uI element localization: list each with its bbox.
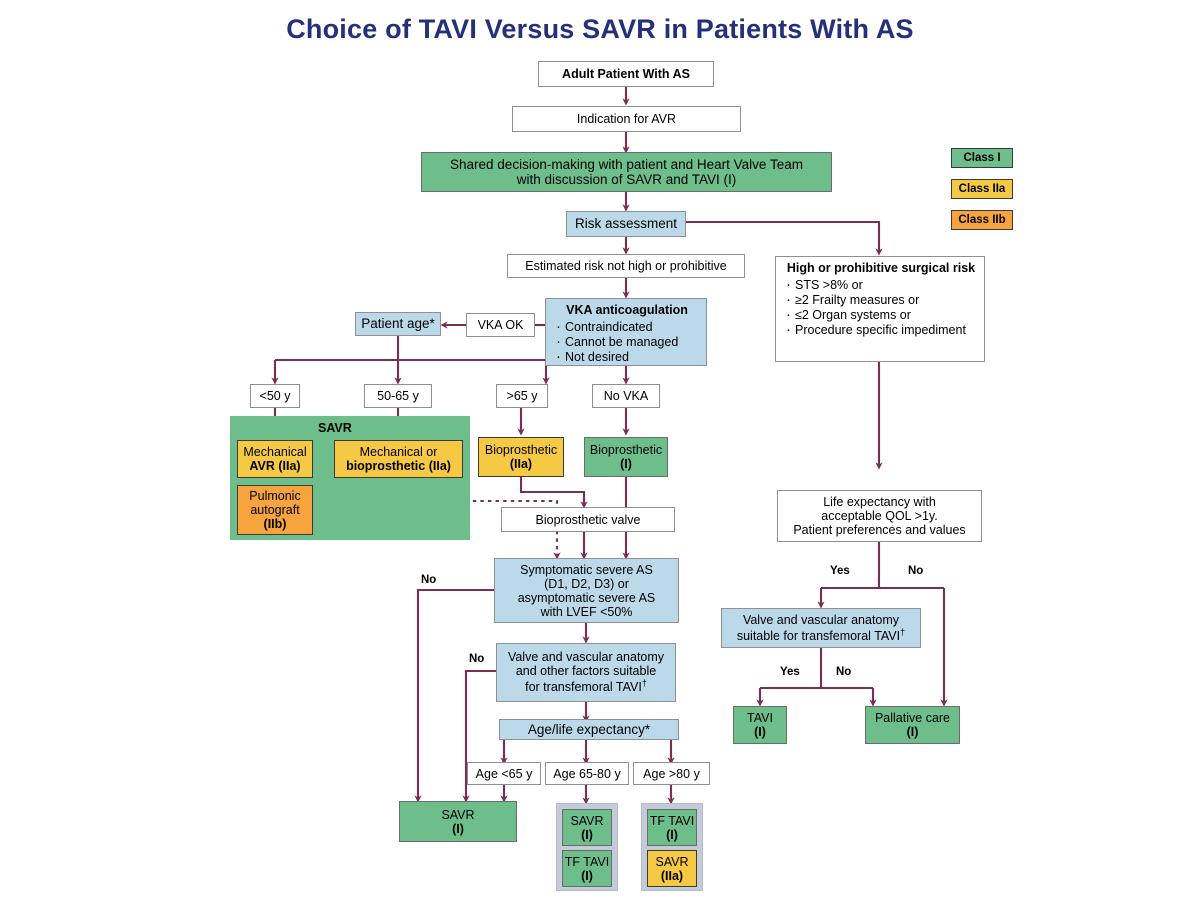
node-no-vka[interactable]: No VKA: [592, 384, 660, 408]
vka-bullet: Contraindicated: [554, 320, 678, 334]
age-life-expectancy-label: Age/life expectancy*: [528, 722, 650, 737]
node-bioprosthetic-iia[interactable]: Bioprosthetic (IIa): [478, 437, 564, 477]
node-valve-anatomy-left[interactable]: Valve and vascular anatomy and other fac…: [496, 643, 676, 702]
page-title: Choice of TAVI Versus SAVR in Patients W…: [0, 14, 1200, 45]
mech-or-bio-line2: bioprosthetic (IIa): [346, 459, 451, 473]
bioprosthetic-iia-line1: Bioprosthetic: [485, 443, 557, 457]
vka-bullet: Cannot be managed: [554, 335, 678, 349]
node-pallative-care-outcome[interactable]: Pallative care (I): [865, 706, 960, 744]
node-patient-age[interactable]: Patient age*: [355, 312, 441, 336]
vka-ok-label: VKA OK: [478, 318, 524, 332]
node-age-lt65[interactable]: Age <65 y: [467, 762, 541, 785]
valve-anatomy-left-line1: Valve and vascular anatomy: [508, 650, 664, 664]
mechanical-avr-line2: AVR (IIa): [249, 459, 300, 473]
pulmonic-line3: (IIb): [264, 517, 287, 531]
edge-label-no-symptomatic: No: [421, 574, 436, 586]
node-risk-assessment[interactable]: Risk assessment: [566, 211, 686, 237]
g80-savr-line2: (IIa): [661, 869, 683, 883]
bioprosthetic-valve-label: Bioprosthetic valve: [536, 513, 641, 527]
risk-assessment-label: Risk assessment: [575, 216, 677, 231]
age-65-80-label: Age 65-80 y: [553, 767, 620, 781]
mech-or-bio-line1: Mechanical or: [360, 445, 438, 459]
edge-label-no-life-exp: No: [908, 565, 923, 577]
g6580-savr-line1: SAVR: [570, 814, 603, 828]
no-vka-label: No VKA: [604, 389, 648, 403]
age-gt80-label: Age >80 y: [643, 767, 700, 781]
node-age-gt80[interactable]: Age >80 y: [633, 762, 710, 785]
patient-age-label: Patient age*: [361, 316, 435, 331]
edge-label-no-anatomy: No: [469, 653, 484, 665]
node-adult-patient[interactable]: Adult Patient With AS: [538, 61, 714, 87]
node-age-lt50[interactable]: <50 y: [250, 384, 300, 408]
age-50-65-label: 50-65 y: [377, 389, 419, 403]
edge-label-yes-life-exp: Yes: [830, 565, 850, 577]
shared-decision-line1: Shared decision-making with patient and …: [450, 157, 803, 172]
node-tavi-outcome[interactable]: TAVI (I): [733, 706, 787, 744]
g80-tftavi-line2: (I): [666, 828, 678, 842]
high-risk-bullet: STS >8% or: [784, 278, 966, 292]
legend-class-iia[interactable]: Class IIa: [951, 179, 1013, 199]
dagger-marker: †: [900, 627, 905, 637]
tavi-line1: TAVI: [747, 711, 773, 725]
valve-anatomy-right-line1: Valve and vascular anatomy: [743, 613, 899, 627]
node-bioprosthetic-i[interactable]: Bioprosthetic (I): [584, 437, 668, 477]
high-risk-heading: High or prohibitive surgical risk: [784, 261, 978, 275]
pulmonic-line2: autograft: [250, 503, 299, 517]
legend-class-i-label: Class I: [963, 152, 1000, 164]
node-symptomatic-severe-as[interactable]: Symptomatic severe AS (D1, D2, D3) or as…: [494, 558, 679, 623]
node-indication-avr-label: Indication for AVR: [577, 112, 676, 126]
pallative-line2: (I): [907, 725, 919, 739]
node-bioprosthetic-valve[interactable]: Bioprosthetic valve: [501, 507, 675, 532]
node-mechanical-avr[interactable]: Mechanical AVR (IIa): [237, 440, 313, 478]
legend-class-iib[interactable]: Class IIb: [951, 210, 1013, 230]
node-vka-ok[interactable]: VKA OK: [466, 313, 535, 337]
g80-tftavi-line1: TF TAVI: [650, 814, 694, 828]
pallative-line1: Pallative care: [875, 711, 950, 725]
node-age-50-65[interactable]: 50-65 y: [364, 384, 432, 408]
pulmonic-line1: Pulmonic: [249, 489, 300, 503]
mechanical-avr-line1: Mechanical: [243, 445, 306, 459]
node-shared-decision[interactable]: Shared decision-making with patient and …: [421, 152, 832, 192]
age-lt65-label: Age <65 y: [476, 767, 533, 781]
estimated-risk-label: Estimated risk not high or prohibitive: [525, 259, 726, 273]
valve-anatomy-left-line3: for transfemoral TAVI†: [525, 678, 647, 694]
symptomatic-line3: asymptomatic severe AS: [518, 591, 656, 605]
node-indication-avr[interactable]: Indication for AVR: [512, 106, 741, 132]
node-age-65-80[interactable]: Age 65-80 y: [545, 762, 629, 785]
g6580-tftavi-line2: (I): [581, 869, 593, 883]
valve-anatomy-left-line2: and other factors suitable: [516, 664, 656, 678]
life-exp-line1: Life expectancy with: [823, 495, 936, 509]
symptomatic-line1: Symptomatic severe AS: [520, 563, 653, 577]
g80-savr-line1: SAVR: [655, 855, 688, 869]
legend-class-iia-label: Class IIa: [959, 183, 1006, 195]
savr-left-line2: (I): [452, 822, 464, 836]
valve-anatomy-left-line3-text: for transfemoral TAVI: [525, 681, 642, 695]
node-mechanical-or-bioprosthetic[interactable]: Mechanical or bioprosthetic (IIa): [334, 440, 463, 478]
high-risk-bullet: ≥2 Frailty measures or: [784, 293, 966, 307]
savr-left-line1: SAVR: [441, 808, 474, 822]
node-vka-anticoagulation[interactable]: VKA anticoagulation Contraindicated Cann…: [545, 298, 707, 366]
symptomatic-line2: (D1, D2, D3) or: [544, 577, 629, 591]
legend-class-iib-label: Class IIb: [958, 214, 1005, 226]
g6580-tftavi-line1: TF TAVI: [565, 855, 609, 869]
high-risk-bullet: Procedure specific impediment: [784, 323, 966, 337]
dagger-marker: †: [642, 678, 647, 688]
g6580-savr-line2: (I): [581, 828, 593, 842]
high-risk-bullet: ≤2 Organ systems or: [784, 308, 966, 322]
vka-heading: VKA anticoagulation: [554, 303, 700, 317]
edge-label-no-anatomy-right: No: [836, 666, 851, 678]
tavi-line2: (I): [754, 725, 766, 739]
edge-label-yes-anatomy-right: Yes: [780, 666, 800, 678]
shared-decision-line2: with discussion of SAVR and TAVI (I): [517, 172, 737, 187]
node-life-expectancy[interactable]: Life expectancy with acceptable QOL >1y.…: [777, 490, 982, 542]
life-exp-line3: Patient preferences and values: [793, 523, 965, 537]
bioprosthetic-iia-line2: (IIa): [510, 457, 532, 471]
node-g6580-tftavi[interactable]: TF TAVI (I): [562, 850, 612, 887]
node-estimated-risk[interactable]: Estimated risk not high or prohibitive: [507, 254, 745, 278]
node-g80-savr[interactable]: SAVR (IIa): [647, 850, 697, 887]
vka-bullet-list: Contraindicated Cannot be managed Not de…: [554, 319, 678, 365]
legend-class-i[interactable]: Class I: [951, 148, 1013, 168]
bioprosthetic-i-line1: Bioprosthetic: [590, 443, 662, 457]
savr-panel-title: SAVR: [318, 421, 352, 435]
symptomatic-line4: with LVEF <50%: [541, 605, 633, 619]
node-adult-patient-label: Adult Patient With AS: [562, 67, 690, 81]
node-age-life-expectancy[interactable]: Age/life expectancy*: [499, 719, 679, 740]
valve-anatomy-right-line2-text: suitable for transfemoral TAVI: [737, 629, 900, 643]
valve-anatomy-right-line2: suitable for transfemoral TAVI†: [737, 627, 905, 643]
vka-bullet: Not desired: [554, 350, 678, 364]
bioprosthetic-i-line2: (I): [620, 457, 632, 471]
node-valve-anatomy-right[interactable]: Valve and vascular anatomy suitable for …: [721, 608, 921, 648]
age-lt50-label: <50 y: [260, 389, 291, 403]
age-gt65-label: >65 y: [507, 389, 538, 403]
life-exp-line2: acceptable QOL >1y.: [821, 509, 937, 523]
node-high-prohibitive-risk[interactable]: High or prohibitive surgical risk STS >8…: [775, 256, 985, 362]
node-savr-left-outcome[interactable]: SAVR (I): [399, 801, 517, 842]
node-g80-tftavi[interactable]: TF TAVI (I): [647, 809, 697, 846]
high-risk-bullet-list: STS >8% or ≥2 Frailty measures or ≤2 Org…: [784, 277, 966, 338]
node-g6580-savr[interactable]: SAVR (I): [562, 809, 612, 846]
node-pulmonic-autograft[interactable]: Pulmonic autograft (IIb): [237, 485, 313, 535]
node-age-gt65[interactable]: >65 y: [496, 384, 548, 408]
